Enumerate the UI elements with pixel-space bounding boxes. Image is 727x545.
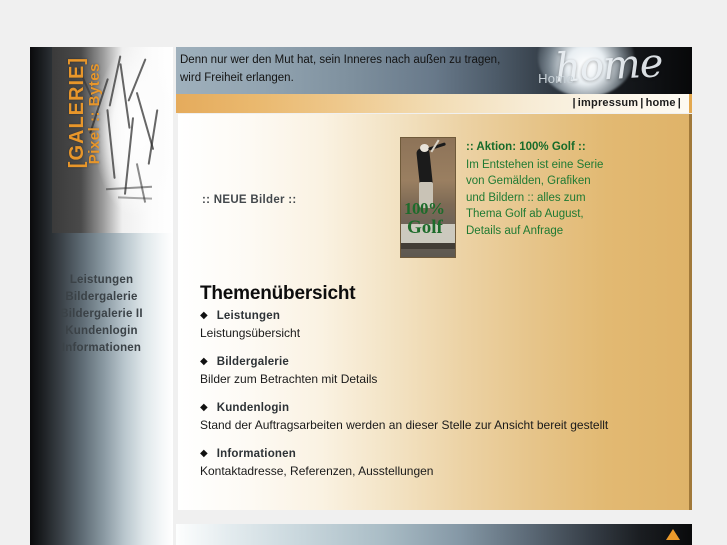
sidebar: Pixel :: Bytes [GALERIE] Leistungen Bild… (30, 47, 173, 545)
promo-text-block: :: Aktion: 100% Golf :: Im Entstehen ist… (466, 139, 606, 239)
topic-header: ◆ Kundenlogin (200, 402, 660, 414)
diamond-bullet-icon: ◆ (200, 357, 208, 367)
topic-list: ◆ Leistungen Leistungsübersicht ◆ Bilder… (200, 310, 660, 494)
topic-description: Stand der Auftragsarbeiten werden an die… (200, 417, 660, 433)
footer-bar (176, 524, 692, 545)
scroll-to-top-triangle-icon[interactable] (666, 529, 680, 540)
section-title: Themenübersicht (200, 283, 355, 305)
nav-separator-mid: | (638, 97, 645, 109)
nav-link-impressum[interactable]: impressum (578, 97, 639, 109)
promo-body-text: Im Entstehen ist eine Serie von Gemälden… (466, 159, 603, 237)
topic-description: Kontaktadresse, Referenzen, Ausstellunge… (200, 463, 660, 479)
neue-bilder-label[interactable]: :: NEUE Bilder :: (202, 194, 297, 206)
gallery-sketch-artwork (52, 47, 173, 233)
topic-header: ◆ Bildergalerie (200, 356, 660, 368)
topic-description: Bilder zum Betrachten mit Details (200, 371, 660, 387)
topic-item-bildergalerie: ◆ Bildergalerie Bilder zum Betrachten mi… (200, 356, 660, 387)
topic-item-kundenlogin: ◆ Kundenlogin Stand der Auftragsarbeiten… (200, 402, 660, 433)
main-content-panel: :: NEUE Bilder :: 100% Golf :: Aktion: 1… (178, 114, 692, 510)
image-dark-band (401, 243, 455, 249)
sidebar-item-bildergalerie[interactable]: Bildergalerie (30, 289, 173, 306)
page-header-banner: Denn nur wer den Mut hat, sein Inneres n… (176, 47, 692, 94)
topic-link-leistungen[interactable]: Leistungen (217, 310, 280, 322)
topic-link-informationen[interactable]: Informationen (217, 448, 296, 460)
sidebar-item-kundenlogin[interactable]: Kundenlogin (30, 323, 173, 340)
topic-item-leistungen: ◆ Leistungen Leistungsübersicht (200, 310, 660, 341)
topic-link-bildergalerie[interactable]: Bildergalerie (217, 356, 289, 368)
header-quote: Denn nur wer den Mut hat, sein Inneres n… (180, 52, 530, 87)
top-nav-links: |impressum|home| (571, 97, 683, 109)
sidebar-item-bildergalerie-ii[interactable]: Bildergalerie II (30, 306, 173, 323)
golfer-body-shape (416, 147, 433, 186)
diamond-bullet-icon: ◆ (200, 403, 208, 413)
top-nav-bar: |impressum|home| (176, 94, 692, 113)
sidebar-item-informationen[interactable]: Informationen (30, 340, 173, 357)
topic-item-informationen: ◆ Informationen Kontaktadresse, Referenz… (200, 448, 660, 479)
diamond-bullet-icon: ◆ (200, 311, 208, 321)
nav-separator-right: | (676, 97, 683, 109)
golf-promo-image[interactable]: 100% Golf (400, 137, 456, 258)
sidebar-nav: Leistungen Bildergalerie Bildergalerie I… (30, 272, 173, 357)
topic-header: ◆ Informationen (200, 448, 660, 460)
header-quote-line-2: wird Freiheit erlangen. (180, 70, 530, 88)
sidebar-item-leistungen[interactable]: Leistungen (30, 272, 173, 289)
topic-description: Leistungsübersicht (200, 325, 660, 341)
header-quote-line-1: Denn nur wer den Mut hat, sein Inneres n… (180, 52, 530, 70)
promo-image-percent: 100% (404, 200, 445, 217)
diamond-bullet-icon: ◆ (200, 449, 208, 459)
promo-image-golf-word: Golf (407, 218, 443, 237)
nav-link-home[interactable]: home (646, 97, 676, 109)
topic-link-kundenlogin[interactable]: Kundenlogin (217, 402, 289, 414)
topic-header: ◆ Leistungen (200, 310, 660, 322)
promo-title: :: Aktion: 100% Golf :: (466, 139, 606, 156)
header-home-label: Home (538, 71, 574, 86)
nav-separator-left: | (571, 97, 578, 109)
